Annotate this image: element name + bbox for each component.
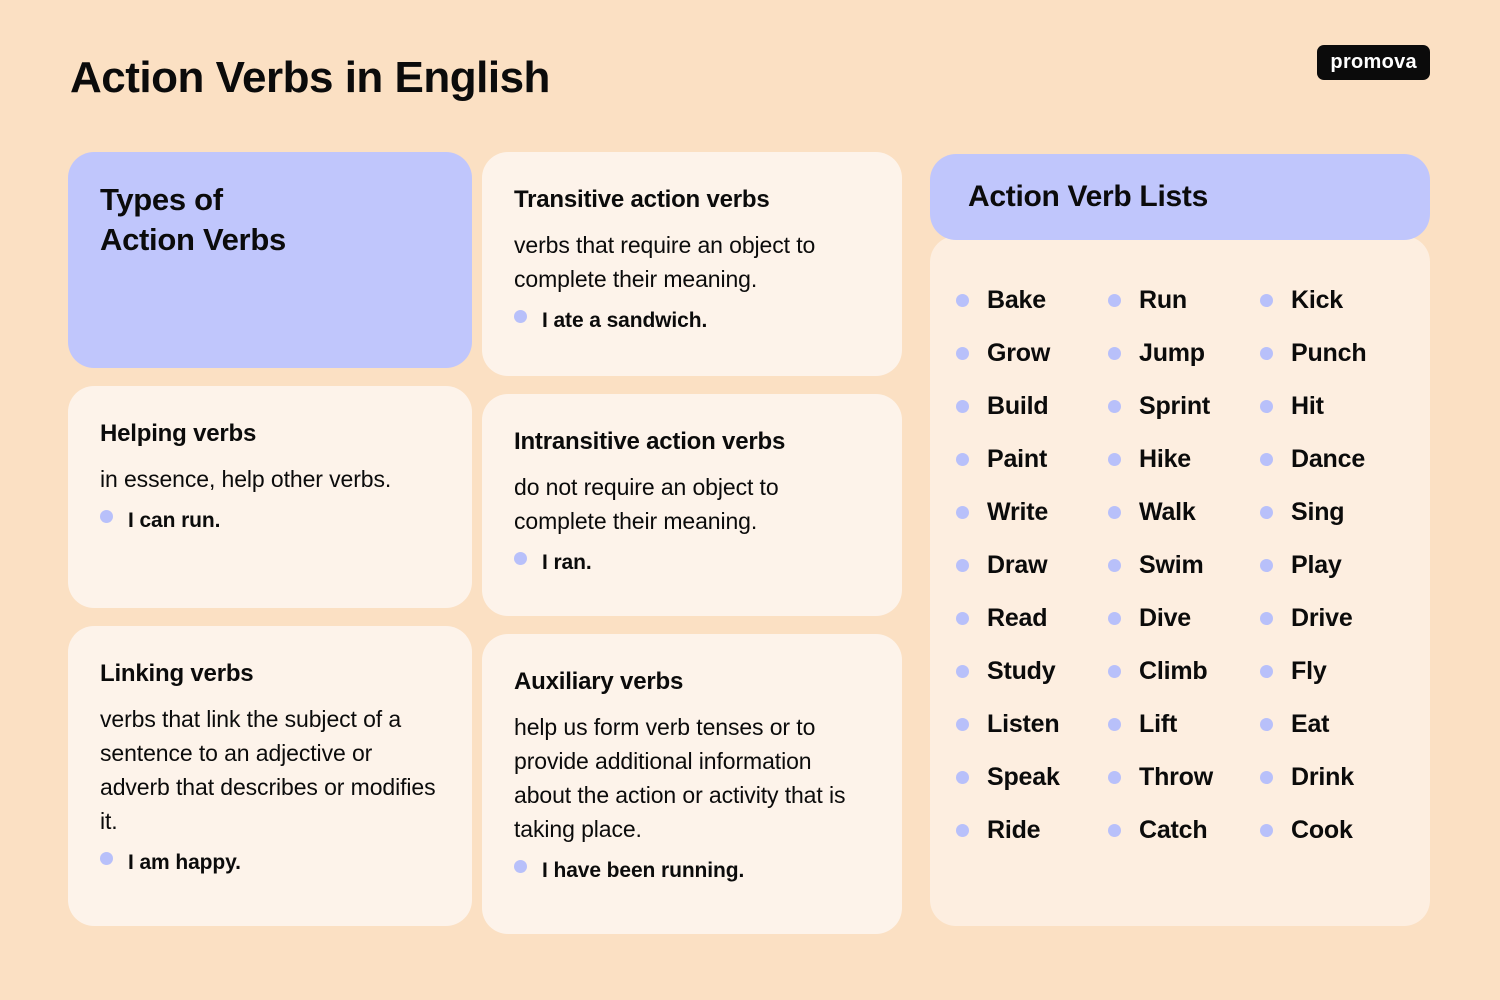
verb-label: Lift bbox=[1139, 710, 1177, 739]
action-verb-lists-panel: Action Verb Lists BakeGrowBuildPaintWrit… bbox=[930, 154, 1430, 926]
bullet-dot bbox=[956, 771, 969, 784]
bullet-dot bbox=[1108, 294, 1121, 307]
verb-label: Run bbox=[1139, 286, 1187, 315]
action-verb-lists-header: Action Verb Lists bbox=[930, 154, 1430, 240]
verb-list-item: Swim bbox=[1108, 539, 1252, 592]
card-transitive-action-verbs: Transitive action verbs verbs that requi… bbox=[482, 152, 902, 376]
verb-list-item: Speak bbox=[956, 751, 1100, 804]
bullet-dot bbox=[956, 612, 969, 625]
verb-list-item: Throw bbox=[1108, 751, 1252, 804]
page-title: Action Verbs in English bbox=[70, 52, 550, 105]
verb-label: Study bbox=[987, 657, 1055, 686]
card-title: Transitive action verbs bbox=[514, 186, 870, 214]
verb-label: Throw bbox=[1139, 763, 1213, 792]
verb-label: Eat bbox=[1291, 710, 1329, 739]
verb-column-3: KickPunchHitDanceSingPlayDriveFlyEatDrin… bbox=[1260, 274, 1404, 857]
verb-list-item: Catch bbox=[1108, 804, 1252, 857]
verb-list-item: Punch bbox=[1260, 327, 1404, 380]
verb-label: Read bbox=[987, 604, 1047, 633]
verb-list-item: Build bbox=[956, 380, 1100, 433]
verb-label: Hit bbox=[1291, 392, 1324, 421]
card-description: in essence, help other verbs. bbox=[100, 462, 440, 496]
verb-list-item: Grow bbox=[956, 327, 1100, 380]
bullet-dot bbox=[1260, 559, 1273, 572]
bullet-dot bbox=[956, 665, 969, 678]
verb-list-item: Sprint bbox=[1108, 380, 1252, 433]
bullet-dot bbox=[956, 506, 969, 519]
card-auxiliary-verbs: Auxiliary verbs help us form verb tenses… bbox=[482, 634, 902, 934]
bullet-dot bbox=[1108, 771, 1121, 784]
bullet-dot bbox=[1108, 612, 1121, 625]
verb-list-item: Run bbox=[1108, 274, 1252, 327]
card-example: I have been running. bbox=[514, 859, 870, 883]
bullet-dot bbox=[1108, 453, 1121, 466]
bullet-dot bbox=[1260, 453, 1273, 466]
card-description: verbs that link the subject of a sentenc… bbox=[100, 702, 440, 838]
verb-list-item: Write bbox=[956, 486, 1100, 539]
action-verb-lists-body: BakeGrowBuildPaintWriteDrawReadStudyList… bbox=[930, 236, 1430, 926]
verb-list-item: Ride bbox=[956, 804, 1100, 857]
verb-list-item: Fly bbox=[1260, 645, 1404, 698]
bullet-dot bbox=[1260, 612, 1273, 625]
verb-list-item: Drive bbox=[1260, 592, 1404, 645]
card-intransitive-action-verbs: Intransitive action verbs do not require… bbox=[482, 394, 902, 616]
verb-list-item: Study bbox=[956, 645, 1100, 698]
verb-list-item: Jump bbox=[1108, 327, 1252, 380]
card-description: do not require an object to complete the… bbox=[514, 470, 870, 538]
bullet-dot bbox=[100, 852, 113, 865]
verb-columns-grid: BakeGrowBuildPaintWriteDrawReadStudyList… bbox=[956, 274, 1404, 857]
bullet-dot bbox=[956, 559, 969, 572]
verb-label: Climb bbox=[1139, 657, 1207, 686]
verb-label: Sing bbox=[1291, 498, 1344, 527]
types-heading: Types of Action Verbs bbox=[100, 180, 440, 259]
verb-list-item: Read bbox=[956, 592, 1100, 645]
verb-list-item: Listen bbox=[956, 698, 1100, 751]
verb-column-2: RunJumpSprintHikeWalkSwimDiveClimbLiftTh… bbox=[1108, 274, 1252, 857]
verb-label: Dance bbox=[1291, 445, 1365, 474]
card-title: Intransitive action verbs bbox=[514, 428, 870, 456]
bullet-dot bbox=[956, 718, 969, 731]
verb-list-item: Drink bbox=[1260, 751, 1404, 804]
verb-label: Grow bbox=[987, 339, 1050, 368]
verb-label: Paint bbox=[987, 445, 1047, 474]
verb-label: Hike bbox=[1139, 445, 1191, 474]
card-description: help us form verb tenses or to provide a… bbox=[514, 710, 870, 846]
card-title: Helping verbs bbox=[100, 420, 440, 448]
types-of-action-verbs-card: Types of Action Verbs bbox=[68, 152, 472, 368]
verb-list-item: Dance bbox=[1260, 433, 1404, 486]
verb-list-item: Kick bbox=[1260, 274, 1404, 327]
bullet-dot bbox=[956, 824, 969, 837]
action-verb-lists-title: Action Verb Lists bbox=[968, 180, 1208, 214]
infographic-page: Action Verbs in English promova Types of… bbox=[0, 0, 1500, 1000]
promova-logo: promova bbox=[1317, 45, 1430, 80]
verb-label: Drink bbox=[1291, 763, 1354, 792]
bullet-dot bbox=[1260, 718, 1273, 731]
verb-list-item: Paint bbox=[956, 433, 1100, 486]
verb-list-item: Walk bbox=[1108, 486, 1252, 539]
card-example-text: I ate a sandwich. bbox=[542, 309, 707, 333]
verb-label: Fly bbox=[1291, 657, 1327, 686]
verb-list-item: Lift bbox=[1108, 698, 1252, 751]
verb-list-item: Hike bbox=[1108, 433, 1252, 486]
verb-label: Kick bbox=[1291, 286, 1343, 315]
verb-column-1: BakeGrowBuildPaintWriteDrawReadStudyList… bbox=[956, 274, 1100, 857]
verb-label: Play bbox=[1291, 551, 1342, 580]
verb-label: Drive bbox=[1291, 604, 1353, 633]
bullet-dot bbox=[956, 453, 969, 466]
verb-list-item: Dive bbox=[1108, 592, 1252, 645]
bullet-dot bbox=[1108, 347, 1121, 360]
verb-list-item: Eat bbox=[1260, 698, 1404, 751]
verb-list-item: Hit bbox=[1260, 380, 1404, 433]
card-title: Auxiliary verbs bbox=[514, 668, 870, 696]
bullet-dot bbox=[1260, 294, 1273, 307]
bullet-dot bbox=[514, 860, 527, 873]
bullet-dot bbox=[1260, 665, 1273, 678]
bullet-dot bbox=[1108, 559, 1121, 572]
bullet-dot bbox=[1108, 665, 1121, 678]
left-column-secondary: Transitive action verbs verbs that requi… bbox=[482, 152, 902, 934]
card-example-text: I am happy. bbox=[128, 851, 241, 875]
verb-label: Draw bbox=[987, 551, 1047, 580]
bullet-dot bbox=[1260, 824, 1273, 837]
verb-label: Speak bbox=[987, 763, 1060, 792]
bullet-dot bbox=[1108, 506, 1121, 519]
verb-label: Listen bbox=[987, 710, 1059, 739]
bullet-dot bbox=[1260, 771, 1273, 784]
verb-label: Write bbox=[987, 498, 1048, 527]
verb-label: Catch bbox=[1139, 816, 1207, 845]
card-example: I can run. bbox=[100, 509, 440, 533]
verb-label: Ride bbox=[987, 816, 1040, 845]
verb-label: Punch bbox=[1291, 339, 1366, 368]
bullet-dot bbox=[1108, 824, 1121, 837]
bullet-dot bbox=[1108, 400, 1121, 413]
card-title: Linking verbs bbox=[100, 660, 440, 688]
bullet-dot bbox=[514, 310, 527, 323]
verb-list-item: Cook bbox=[1260, 804, 1404, 857]
card-description: verbs that require an object to complete… bbox=[514, 228, 870, 296]
card-example: I ran. bbox=[514, 551, 870, 575]
card-example-text: I can run. bbox=[128, 509, 220, 533]
bullet-dot bbox=[1260, 400, 1273, 413]
card-example: I ate a sandwich. bbox=[514, 309, 870, 333]
card-linking-verbs: Linking verbs verbs that link the subjec… bbox=[68, 626, 472, 926]
verb-list-item: Bake bbox=[956, 274, 1100, 327]
bullet-dot bbox=[100, 510, 113, 523]
bullet-dot bbox=[514, 552, 527, 565]
bullet-dot bbox=[956, 347, 969, 360]
verb-label: Dive bbox=[1139, 604, 1191, 633]
card-example-text: I have been running. bbox=[542, 859, 744, 883]
verb-list-item: Sing bbox=[1260, 486, 1404, 539]
verb-label: Cook bbox=[1291, 816, 1353, 845]
card-helping-verbs: Helping verbs in essence, help other ver… bbox=[68, 386, 472, 608]
bullet-dot bbox=[1260, 506, 1273, 519]
verb-label: Swim bbox=[1139, 551, 1204, 580]
verb-label: Bake bbox=[987, 286, 1046, 315]
verb-label: Build bbox=[987, 392, 1049, 421]
verb-list-item: Climb bbox=[1108, 645, 1252, 698]
verb-list-item: Draw bbox=[956, 539, 1100, 592]
card-example: I am happy. bbox=[100, 851, 440, 875]
verb-label: Jump bbox=[1139, 339, 1205, 368]
verb-list-item: Play bbox=[1260, 539, 1404, 592]
left-column-primary: Types of Action Verbs Helping verbs in e… bbox=[68, 152, 472, 926]
verb-label: Sprint bbox=[1139, 392, 1210, 421]
bullet-dot bbox=[956, 400, 969, 413]
verb-label: Walk bbox=[1139, 498, 1196, 527]
bullet-dot bbox=[1260, 347, 1273, 360]
card-example-text: I ran. bbox=[542, 551, 592, 575]
bullet-dot bbox=[956, 294, 969, 307]
bullet-dot bbox=[1108, 718, 1121, 731]
